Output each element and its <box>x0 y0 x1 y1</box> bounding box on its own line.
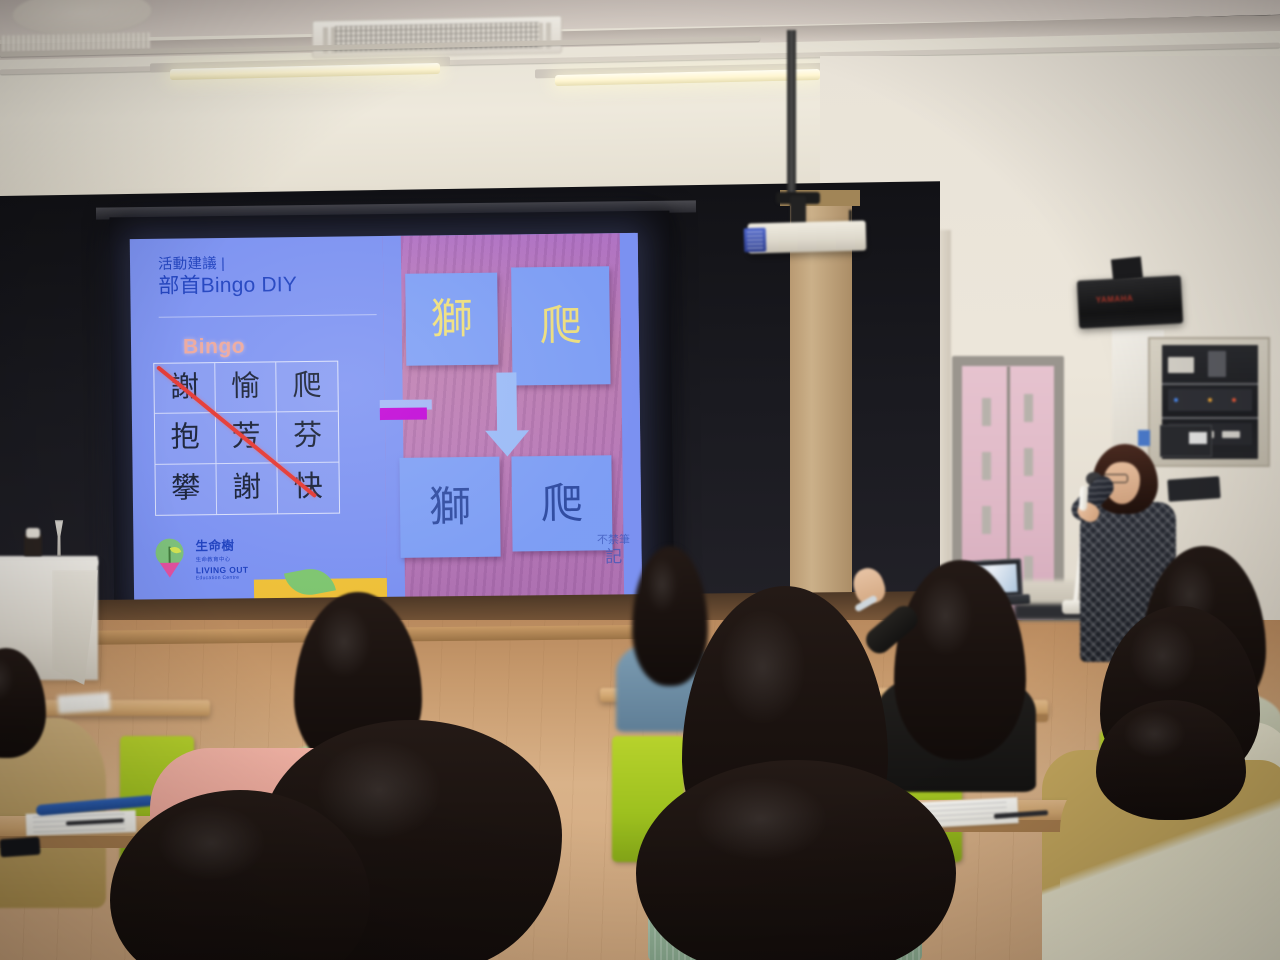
attendee-right-foreground <box>1040 700 1280 960</box>
photo-card-top-1: 獅 <box>405 273 498 366</box>
av-unit-1 <box>1168 357 1194 373</box>
logo-subtitle-cn: 生命教育中心 <box>196 555 249 564</box>
living-out-tree-icon <box>151 538 189 578</box>
bingo-cell-r3c2: 謝 <box>216 463 278 514</box>
av-amplifier <box>1168 389 1252 411</box>
attendee-front-left <box>0 648 110 908</box>
smartphone[interactable] <box>0 837 41 858</box>
door-window-4 <box>1024 448 1033 476</box>
speaker-brand-label: YAMAHA <box>1096 294 1134 305</box>
slide-left-panel: 活動建議 | 部首Bingo DIY Bingo 謝 愉 爬 抱 芳 芬 攀 謝… <box>130 236 388 614</box>
attendee-foreground-center-head <box>636 760 956 960</box>
slide-photo: 獅 爬 獅 爬 不禁筆 記 <box>383 233 643 611</box>
wall-speaker: YAMAHA <box>1077 275 1183 328</box>
logo-name-cn: 生命樹 <box>195 535 248 555</box>
photo-card-bottom-1: 獅 <box>399 457 500 558</box>
door-window-2 <box>1024 394 1033 422</box>
classroom-scene: YAMAHA 活動建議 | 部首Bingo DIY Bingo 謝 愉 爬 抱 <box>0 0 1280 960</box>
slide-title: 活動建議 | 部首Bingo DIY <box>158 254 384 300</box>
photo-card-top-2: 爬 <box>511 266 610 385</box>
down-arrow-head-icon <box>485 430 529 457</box>
bingo-cell-r2c3: 芬 <box>277 412 339 463</box>
logo-name-en: LIVING OUT <box>196 565 249 576</box>
projector-lens <box>744 228 767 253</box>
bingo-cell-r1c2: 愉 <box>215 362 277 413</box>
av-unit-2 <box>1208 351 1226 377</box>
magenta-marker-bar <box>380 408 427 421</box>
presentation-slide: 活動建議 | 部首Bingo DIY Bingo 謝 愉 爬 抱 芳 芬 攀 謝… <box>130 233 643 614</box>
door-window-1 <box>982 398 991 426</box>
attendee-foreground-center-hair <box>636 760 956 960</box>
wooden-column <box>790 196 852 616</box>
logo-text-block: 生命樹 生命教育中心 LIVING OUT Education Centre <box>195 535 248 582</box>
organisation-logo: 生命樹 生命教育中心 LIVING OUT Education Centre <box>151 535 248 582</box>
attendee-right-foreground-hair <box>1096 700 1246 820</box>
logo-subtitle-en: Education Centre <box>196 575 249 582</box>
slide-title-line1: 活動建議 | <box>158 254 383 274</box>
door-window-6 <box>1024 502 1033 530</box>
door-window-5 <box>982 506 991 534</box>
bingo-label: Bingo <box>183 335 245 360</box>
attendee-foreground-left-head <box>110 790 370 960</box>
photo-watermark-line1: 不禁筆 <box>597 534 630 546</box>
attendee-foreground-left-hair <box>110 790 370 960</box>
projector-ceiling-pole <box>787 30 796 200</box>
title-divider <box>159 314 377 318</box>
ac-vent-icon <box>312 15 562 58</box>
table-object-cup <box>26 528 40 538</box>
bingo-cell-r2c1: 抱 <box>155 413 217 464</box>
bingo-cell-r1c3: 爬 <box>276 362 338 413</box>
presentation-pointer <box>1079 486 1089 511</box>
slide-title-line2: 部首Bingo DIY <box>158 272 383 300</box>
door-window-3 <box>982 452 991 480</box>
bingo-cell-r3c1: 攀 <box>155 464 217 515</box>
